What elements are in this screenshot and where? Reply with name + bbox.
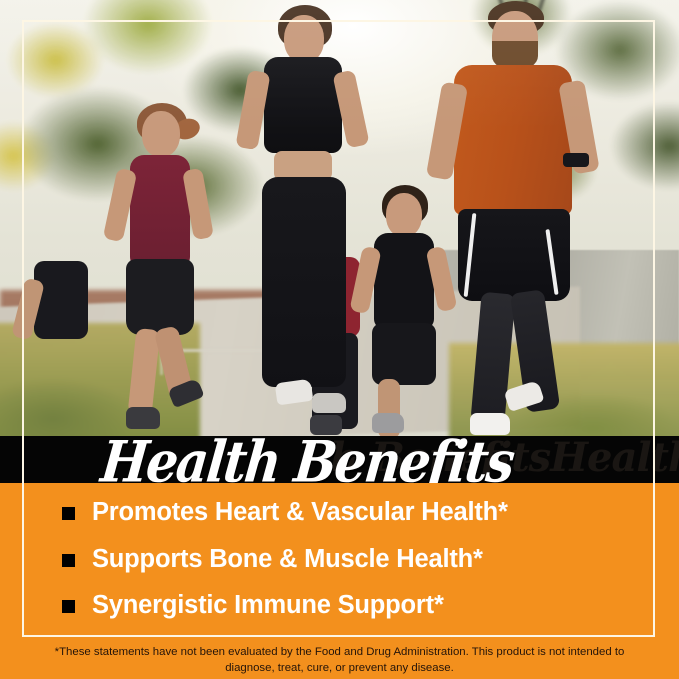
photo-highlight-overlay [0, 0, 679, 437]
bullet-square-icon [62, 600, 75, 613]
benefit-label: Promotes Heart & Vascular Health* [92, 498, 508, 527]
benefit-item-0: Promotes Heart & Vascular Health* [62, 498, 508, 527]
bullet-square-icon [62, 507, 75, 520]
benefit-item-1: Supports Bone & Muscle Health* [62, 545, 483, 574]
health-benefits-banner: h BenefitsHealth Health Benefits [0, 436, 679, 483]
product-benefits-poster: h BenefitsHealth Health Benefits Promote… [0, 0, 679, 679]
fda-disclaimer: *These statements have not been evaluate… [0, 644, 679, 676]
benefit-item-2: Synergistic Immune Support* [62, 591, 444, 620]
bullet-square-icon [62, 554, 75, 567]
benefits-list: Promotes Heart & Vascular Health* Suppor… [0, 483, 679, 633]
benefit-label: Supports Bone & Muscle Health* [92, 545, 483, 574]
benefit-label: Synergistic Immune Support* [92, 591, 444, 620]
banner-title: Health Benefits [98, 436, 516, 483]
hero-photo [0, 0, 679, 437]
